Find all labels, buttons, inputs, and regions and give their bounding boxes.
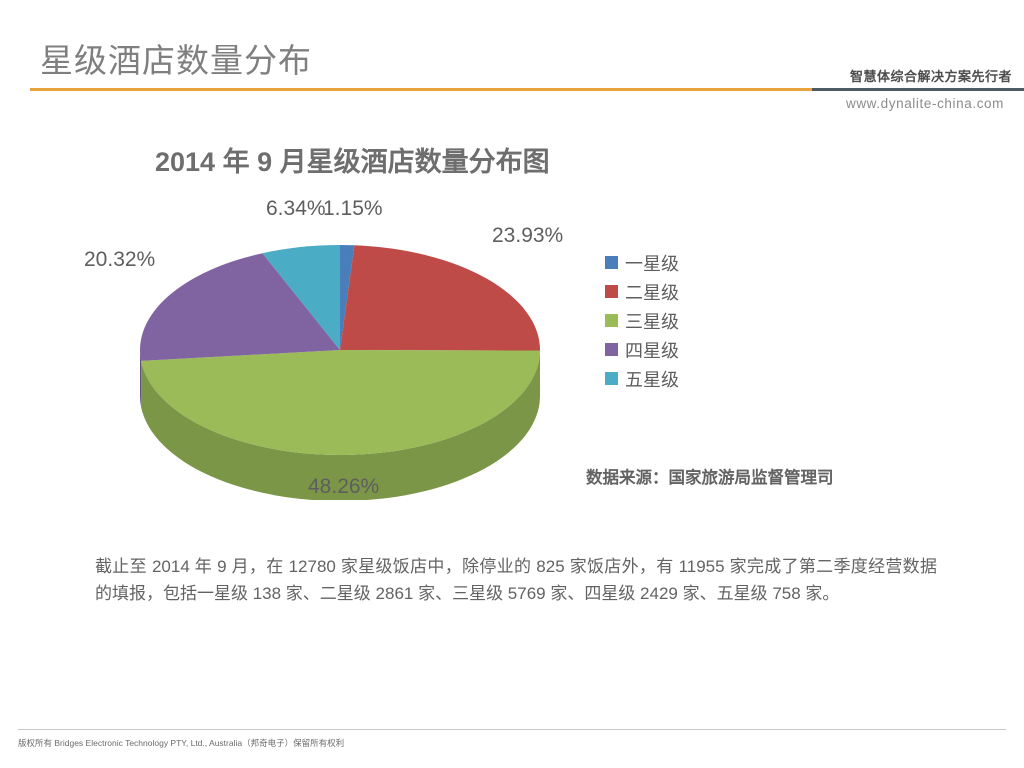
legend-item[interactable]: 四星级 bbox=[605, 335, 679, 364]
legend-swatch-icon bbox=[605, 372, 618, 385]
legend-label: 三星级 bbox=[625, 308, 679, 334]
brand-tagline: 智慧体综合解决方案先行者 bbox=[850, 66, 1012, 85]
legend-label: 二星级 bbox=[625, 279, 679, 305]
legend-item[interactable]: 二星级 bbox=[605, 277, 679, 306]
legend-swatch-icon bbox=[605, 285, 618, 298]
legend-item[interactable]: 五星级 bbox=[605, 364, 679, 393]
pie-label-two-star: 23.93% bbox=[492, 224, 563, 248]
brand-url-link[interactable]: www.dynalite-china.com bbox=[846, 96, 1004, 111]
pie-slice-top[interactable] bbox=[340, 245, 540, 350]
header-rule-orange bbox=[30, 88, 812, 91]
chart-legend: 一星级二星级三星级四星级五星级 bbox=[605, 248, 679, 393]
data-source-note: 数据来源：国家旅游局监督管理司 bbox=[586, 464, 834, 488]
pie-label-three-star: 48.26% bbox=[308, 475, 379, 499]
legend-item[interactable]: 一星级 bbox=[605, 248, 679, 277]
pie-svg bbox=[120, 210, 560, 500]
chart-title: 2014 年 9 月星级酒店数量分布图 bbox=[155, 140, 550, 179]
pie-label-one-star: 1.15% bbox=[323, 197, 383, 221]
pie-label-five-star: 6.34% bbox=[266, 197, 326, 221]
footer-copyright: 版权所有 Bridges Electronic Technology PTY, … bbox=[18, 737, 344, 749]
pie-graphic bbox=[120, 210, 560, 500]
pie-label-four-star: 20.32% bbox=[84, 248, 155, 272]
pie-top-group bbox=[140, 245, 540, 455]
legend-swatch-icon bbox=[605, 343, 618, 356]
header-rule-dark bbox=[812, 88, 1024, 91]
legend-swatch-icon bbox=[605, 256, 618, 269]
legend-swatch-icon bbox=[605, 314, 618, 327]
body-paragraph: 截止至 2014 年 9 月，在 12780 家星级饭店中，除停业的 825 家… bbox=[95, 553, 937, 607]
page-title: 星级酒店数量分布 bbox=[40, 40, 312, 82]
slide-header: 星级酒店数量分布 智慧体综合解决方案先行者 www.dynalite-china… bbox=[0, 0, 1024, 105]
legend-label: 一星级 bbox=[625, 250, 679, 276]
footer-divider bbox=[18, 729, 1006, 730]
legend-item[interactable]: 三星级 bbox=[605, 306, 679, 335]
legend-label: 四星级 bbox=[625, 337, 679, 363]
legend-label: 五星级 bbox=[625, 366, 679, 392]
